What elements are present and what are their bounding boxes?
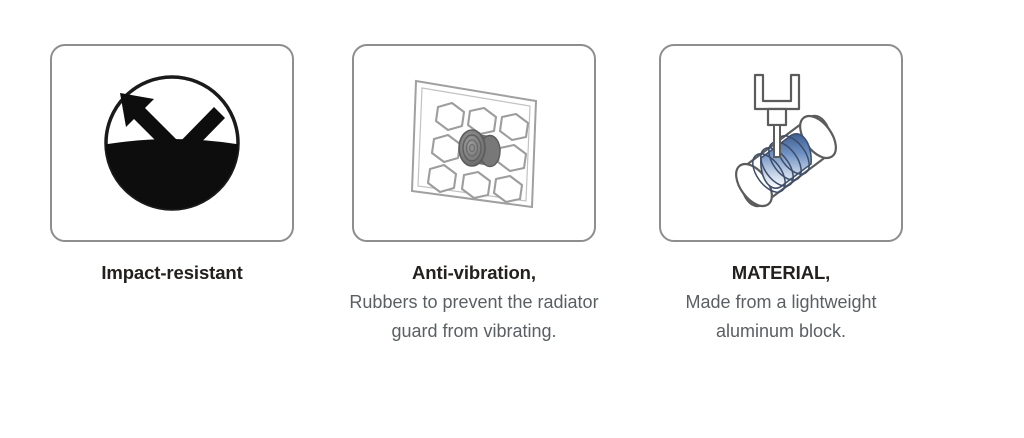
icon-card-anti-vibration — [352, 44, 596, 242]
cutting-tool — [774, 125, 780, 157]
feature-item-material: MATERIAL, Made from a lightweight alumin… — [659, 44, 903, 346]
cnc-machining-aluminum-icon — [695, 57, 867, 229]
feature-item-impact-resistant: Impact-resistant — [50, 44, 294, 286]
feature-body: Made from a lightweight aluminum block. — [655, 288, 907, 346]
icon-card-material — [659, 44, 903, 242]
icon-card-impact-resistant — [50, 44, 294, 242]
feature-title: Anti-vibration, — [348, 261, 600, 286]
feature-cards-row: Impact-resistant — [0, 0, 1024, 438]
caption-impact-resistant: Impact-resistant — [46, 261, 298, 286]
feature-item-anti-vibration: Anti-vibration, Rubbers to prevent the r… — [352, 44, 596, 346]
feature-title: MATERIAL, — [655, 261, 907, 286]
feature-title: Impact-resistant — [46, 261, 298, 286]
impact-resistant-icon — [92, 63, 252, 223]
anti-vibration-mesh-icon — [386, 55, 562, 231]
caption-anti-vibration: Anti-vibration, Rubbers to prevent the r… — [348, 261, 600, 346]
caption-material: MATERIAL, Made from a lightweight alumin… — [655, 261, 907, 346]
feature-body: Rubbers to prevent the radiator guard fr… — [348, 288, 600, 346]
